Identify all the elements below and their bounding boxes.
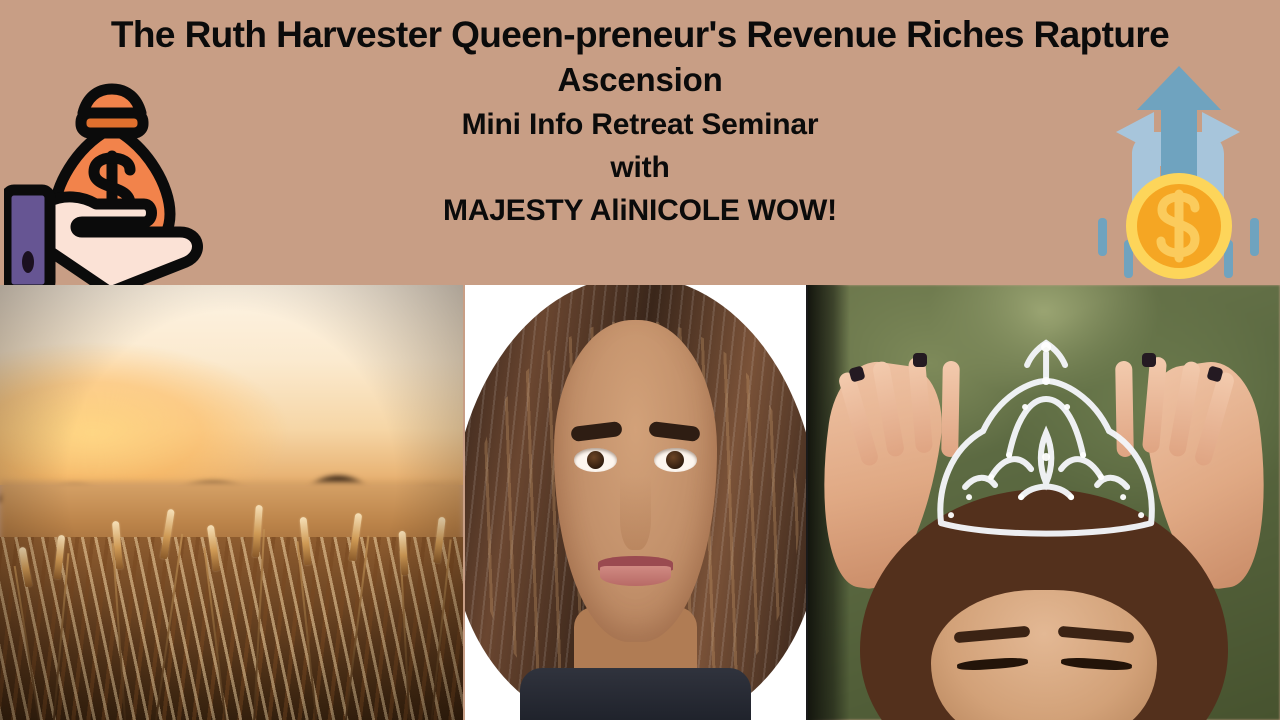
portrait-shirt [520,668,752,720]
rhinestone-tiara [921,337,1171,537]
portrait-nose [620,476,651,550]
speaker-portrait-photo [465,285,806,720]
wheat-field-sunset-photo [0,285,463,720]
crowning-tiara-photo [808,285,1280,720]
photo-strip [0,285,1280,720]
event-flyer: The Ruth Harvester Queen-preneur's Reven… [0,0,1280,720]
subject-forehead [931,590,1158,720]
headline-line-1: The Ruth Harvester Queen-preneur's Reven… [0,12,1280,57]
photo-vignette [0,285,463,720]
gold-coin-icon [1126,173,1232,279]
header-band: The Ruth Harvester Queen-preneur's Reven… [0,0,1280,287]
portrait-iris-right [666,451,684,469]
revenue-growth-coin-icon [1076,58,1280,286]
portrait-lower-lip [600,566,672,586]
